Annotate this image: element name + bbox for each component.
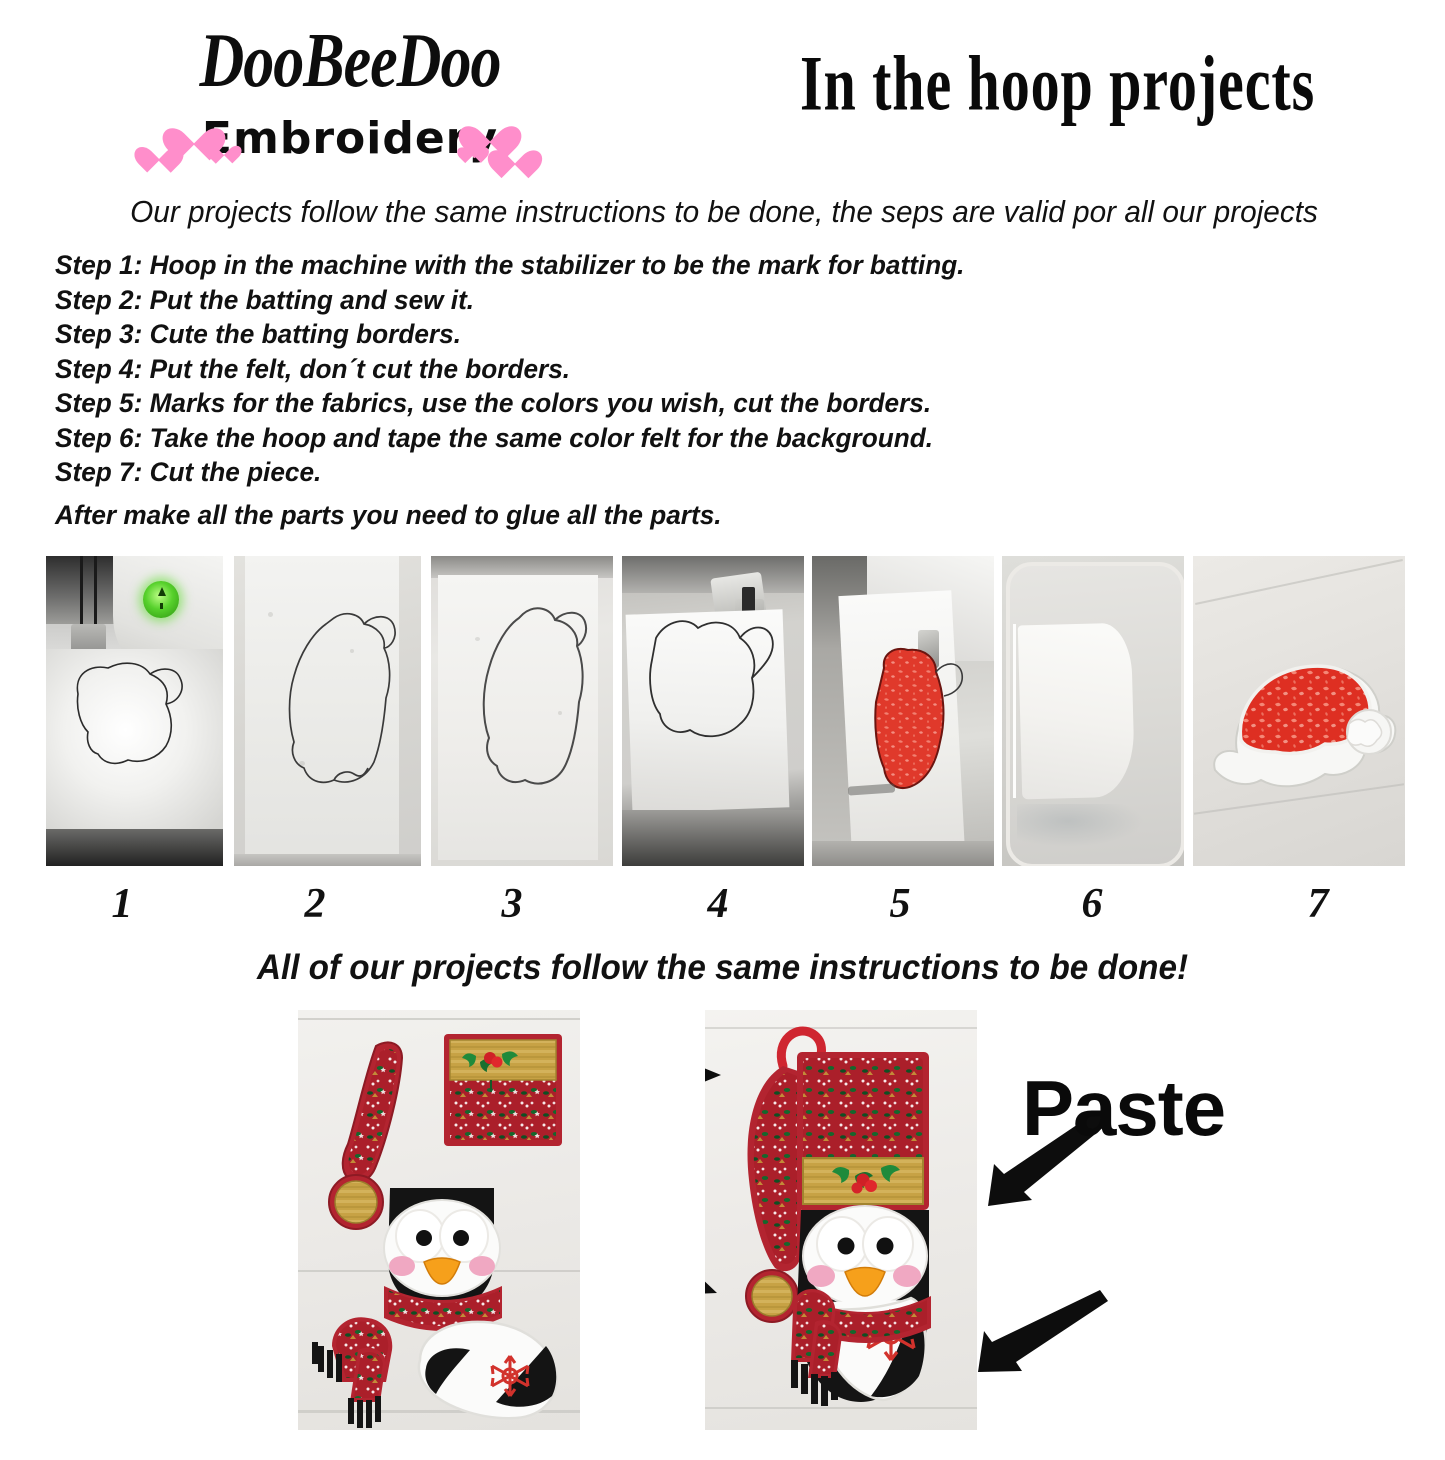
penguin-face-part xyxy=(384,1188,502,1331)
brand-subtitle-row: Embroidery xyxy=(150,110,550,170)
boot-part xyxy=(419,1322,557,1418)
tutorial-photo-3 xyxy=(431,556,613,866)
heart-icon xyxy=(496,138,534,171)
photo-number: 7 xyxy=(1288,880,1348,928)
heart-icon xyxy=(212,138,236,159)
bottom-photo-parts xyxy=(298,1010,580,1430)
photo-number-row: 1 2 3 4 5 6 7 xyxy=(0,880,1445,930)
tutorial-photo-strip xyxy=(0,556,1445,866)
photo-number: 2 xyxy=(285,880,345,928)
pointer-arrow-icon xyxy=(705,1272,717,1294)
tutorial-photo-4 xyxy=(622,556,804,866)
after-note: After make all the parts you need to glu… xyxy=(55,498,722,532)
intro-paragraph: Our projects follow the same instruction… xyxy=(42,192,1405,232)
step-item: Step 2: Put the batting and sew it. xyxy=(55,283,1025,318)
tutorial-photo-6 xyxy=(1002,556,1184,866)
photo-number: 4 xyxy=(688,880,748,928)
brand-logo: DooBeeDoo Embroidery xyxy=(150,22,550,170)
photo-number: 3 xyxy=(482,880,542,928)
brand-name: DooBeeDoo xyxy=(150,22,550,100)
banner-text: All of our projects follow the same inst… xyxy=(36,945,1409,991)
bottom-photo-assembled xyxy=(705,1010,977,1430)
tutorial-photo-2 xyxy=(234,556,421,866)
heart-icon xyxy=(462,140,484,159)
pointer-arrow-icon xyxy=(978,1290,1108,1372)
pointer-arrow-icon xyxy=(705,1066,721,1084)
tutorial-photo-1 xyxy=(46,556,223,866)
photo-number: 5 xyxy=(870,880,930,928)
tutorial-photo-5 xyxy=(812,556,994,866)
step-item: Step 7: Cut the piece. xyxy=(55,455,1025,490)
hat-square-part xyxy=(444,1034,562,1146)
right-arrows-group xyxy=(960,1100,1380,1460)
scarf-parts xyxy=(312,1317,392,1428)
page-title: In the hoop projects xyxy=(800,46,1328,124)
step-item: Step 1: Hoop in the machine with the sta… xyxy=(55,248,1025,283)
steps-list: Step 1: Hoop in the machine with the sta… xyxy=(55,248,1055,490)
page-header: DooBeeDoo Embroidery In the hoop project… xyxy=(0,0,1445,180)
photo-number: 1 xyxy=(92,880,152,928)
tutorial-photo-7 xyxy=(1193,556,1405,866)
paste-label: Paste xyxy=(1022,1065,1225,1151)
step-item: Step 5: Marks for the fabrics, use the c… xyxy=(55,386,1025,421)
step-item: Step 4: Put the felt, don´t cut the bord… xyxy=(55,352,1025,387)
photo-number: 6 xyxy=(1062,880,1122,928)
step-item: Step 6: Take the hoop and tape the same … xyxy=(55,421,1025,456)
step-item: Step 3: Cute the batting borders. xyxy=(55,317,1025,352)
